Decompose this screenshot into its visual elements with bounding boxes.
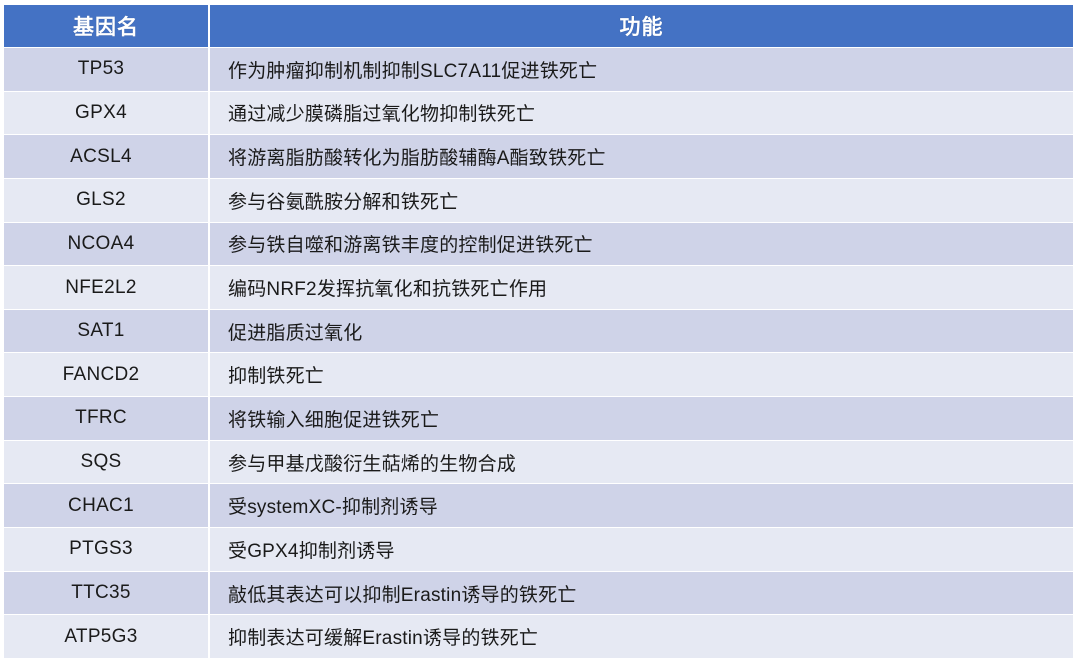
cell-gene-name: SAT1 [4, 310, 210, 353]
table-row: GLS2参与谷氨酰胺分解和铁死亡 [4, 179, 1073, 222]
cell-gene-name: FANCD2 [4, 353, 210, 396]
table-row: TTC35敲低其表达可以抑制Erastin诱导的铁死亡 [4, 572, 1073, 615]
cell-function: 参与谷氨酰胺分解和铁死亡 [210, 179, 1073, 222]
cell-function: 参与甲基戊酸衍生萜烯的生物合成 [210, 441, 1073, 484]
cell-gene-name: NFE2L2 [4, 266, 210, 309]
table-header-row: 基因名 功能 [4, 5, 1073, 47]
cell-gene-name: TFRC [4, 397, 210, 440]
table-row: TFRC将铁输入细胞促进铁死亡 [4, 397, 1073, 440]
cell-gene-name: TTC35 [4, 572, 210, 615]
table-row: SQS参与甲基戊酸衍生萜烯的生物合成 [4, 441, 1073, 484]
table-row: TP53作为肿瘤抑制机制抑制SLC7A11促进铁死亡 [4, 48, 1073, 91]
cell-gene-name: NCOA4 [4, 223, 210, 266]
cell-function: 受systemXC-抑制剂诱导 [210, 484, 1073, 527]
cell-gene-name: PTGS3 [4, 528, 210, 571]
table-row: PTGS3受GPX4抑制剂诱导 [4, 528, 1073, 571]
cell-function: 作为肿瘤抑制机制抑制SLC7A11促进铁死亡 [210, 48, 1073, 91]
cell-function: 敲低其表达可以抑制Erastin诱导的铁死亡 [210, 572, 1073, 615]
table-row: GPX4通过减少膜磷脂过氧化物抑制铁死亡 [4, 92, 1073, 135]
cell-function: 抑制铁死亡 [210, 353, 1073, 396]
table-row: ATP5G3抑制表达可缓解Erastin诱导的铁死亡 [4, 615, 1073, 658]
table-row: FANCD2抑制铁死亡 [4, 353, 1073, 396]
cell-gene-name: GPX4 [4, 92, 210, 135]
table-body: TP53作为肿瘤抑制机制抑制SLC7A11促进铁死亡GPX4通过减少膜磷脂过氧化… [4, 48, 1073, 658]
gene-function-table: 基因名 功能 TP53作为肿瘤抑制机制抑制SLC7A11促进铁死亡GPX4通过减… [4, 4, 1073, 659]
cell-function: 抑制表达可缓解Erastin诱导的铁死亡 [210, 615, 1073, 658]
gene-function-table-container: 基因名 功能 TP53作为肿瘤抑制机制抑制SLC7A11促进铁死亡GPX4通过减… [0, 0, 1080, 659]
table-row: SAT1促进脂质过氧化 [4, 310, 1073, 353]
cell-gene-name: TP53 [4, 48, 210, 91]
column-header-function: 功能 [210, 5, 1073, 47]
cell-function: 通过减少膜磷脂过氧化物抑制铁死亡 [210, 92, 1073, 135]
cell-gene-name: ACSL4 [4, 135, 210, 178]
table-row: CHAC1受systemXC-抑制剂诱导 [4, 484, 1073, 527]
table-header: 基因名 功能 [4, 5, 1073, 47]
cell-function: 将游离脂肪酸转化为脂肪酸辅酶A酯致铁死亡 [210, 135, 1073, 178]
column-header-gene-name: 基因名 [4, 5, 210, 47]
cell-function: 促进脂质过氧化 [210, 310, 1073, 353]
table-row: ACSL4将游离脂肪酸转化为脂肪酸辅酶A酯致铁死亡 [4, 135, 1073, 178]
table-row: NFE2L2编码NRF2发挥抗氧化和抗铁死亡作用 [4, 266, 1073, 309]
cell-function: 编码NRF2发挥抗氧化和抗铁死亡作用 [210, 266, 1073, 309]
cell-gene-name: CHAC1 [4, 484, 210, 527]
cell-function: 将铁输入细胞促进铁死亡 [210, 397, 1073, 440]
table-row: NCOA4参与铁自噬和游离铁丰度的控制促进铁死亡 [4, 223, 1073, 266]
cell-function: 参与铁自噬和游离铁丰度的控制促进铁死亡 [210, 223, 1073, 266]
cell-gene-name: SQS [4, 441, 210, 484]
cell-gene-name: ATP5G3 [4, 615, 210, 658]
cell-function: 受GPX4抑制剂诱导 [210, 528, 1073, 571]
cell-gene-name: GLS2 [4, 179, 210, 222]
